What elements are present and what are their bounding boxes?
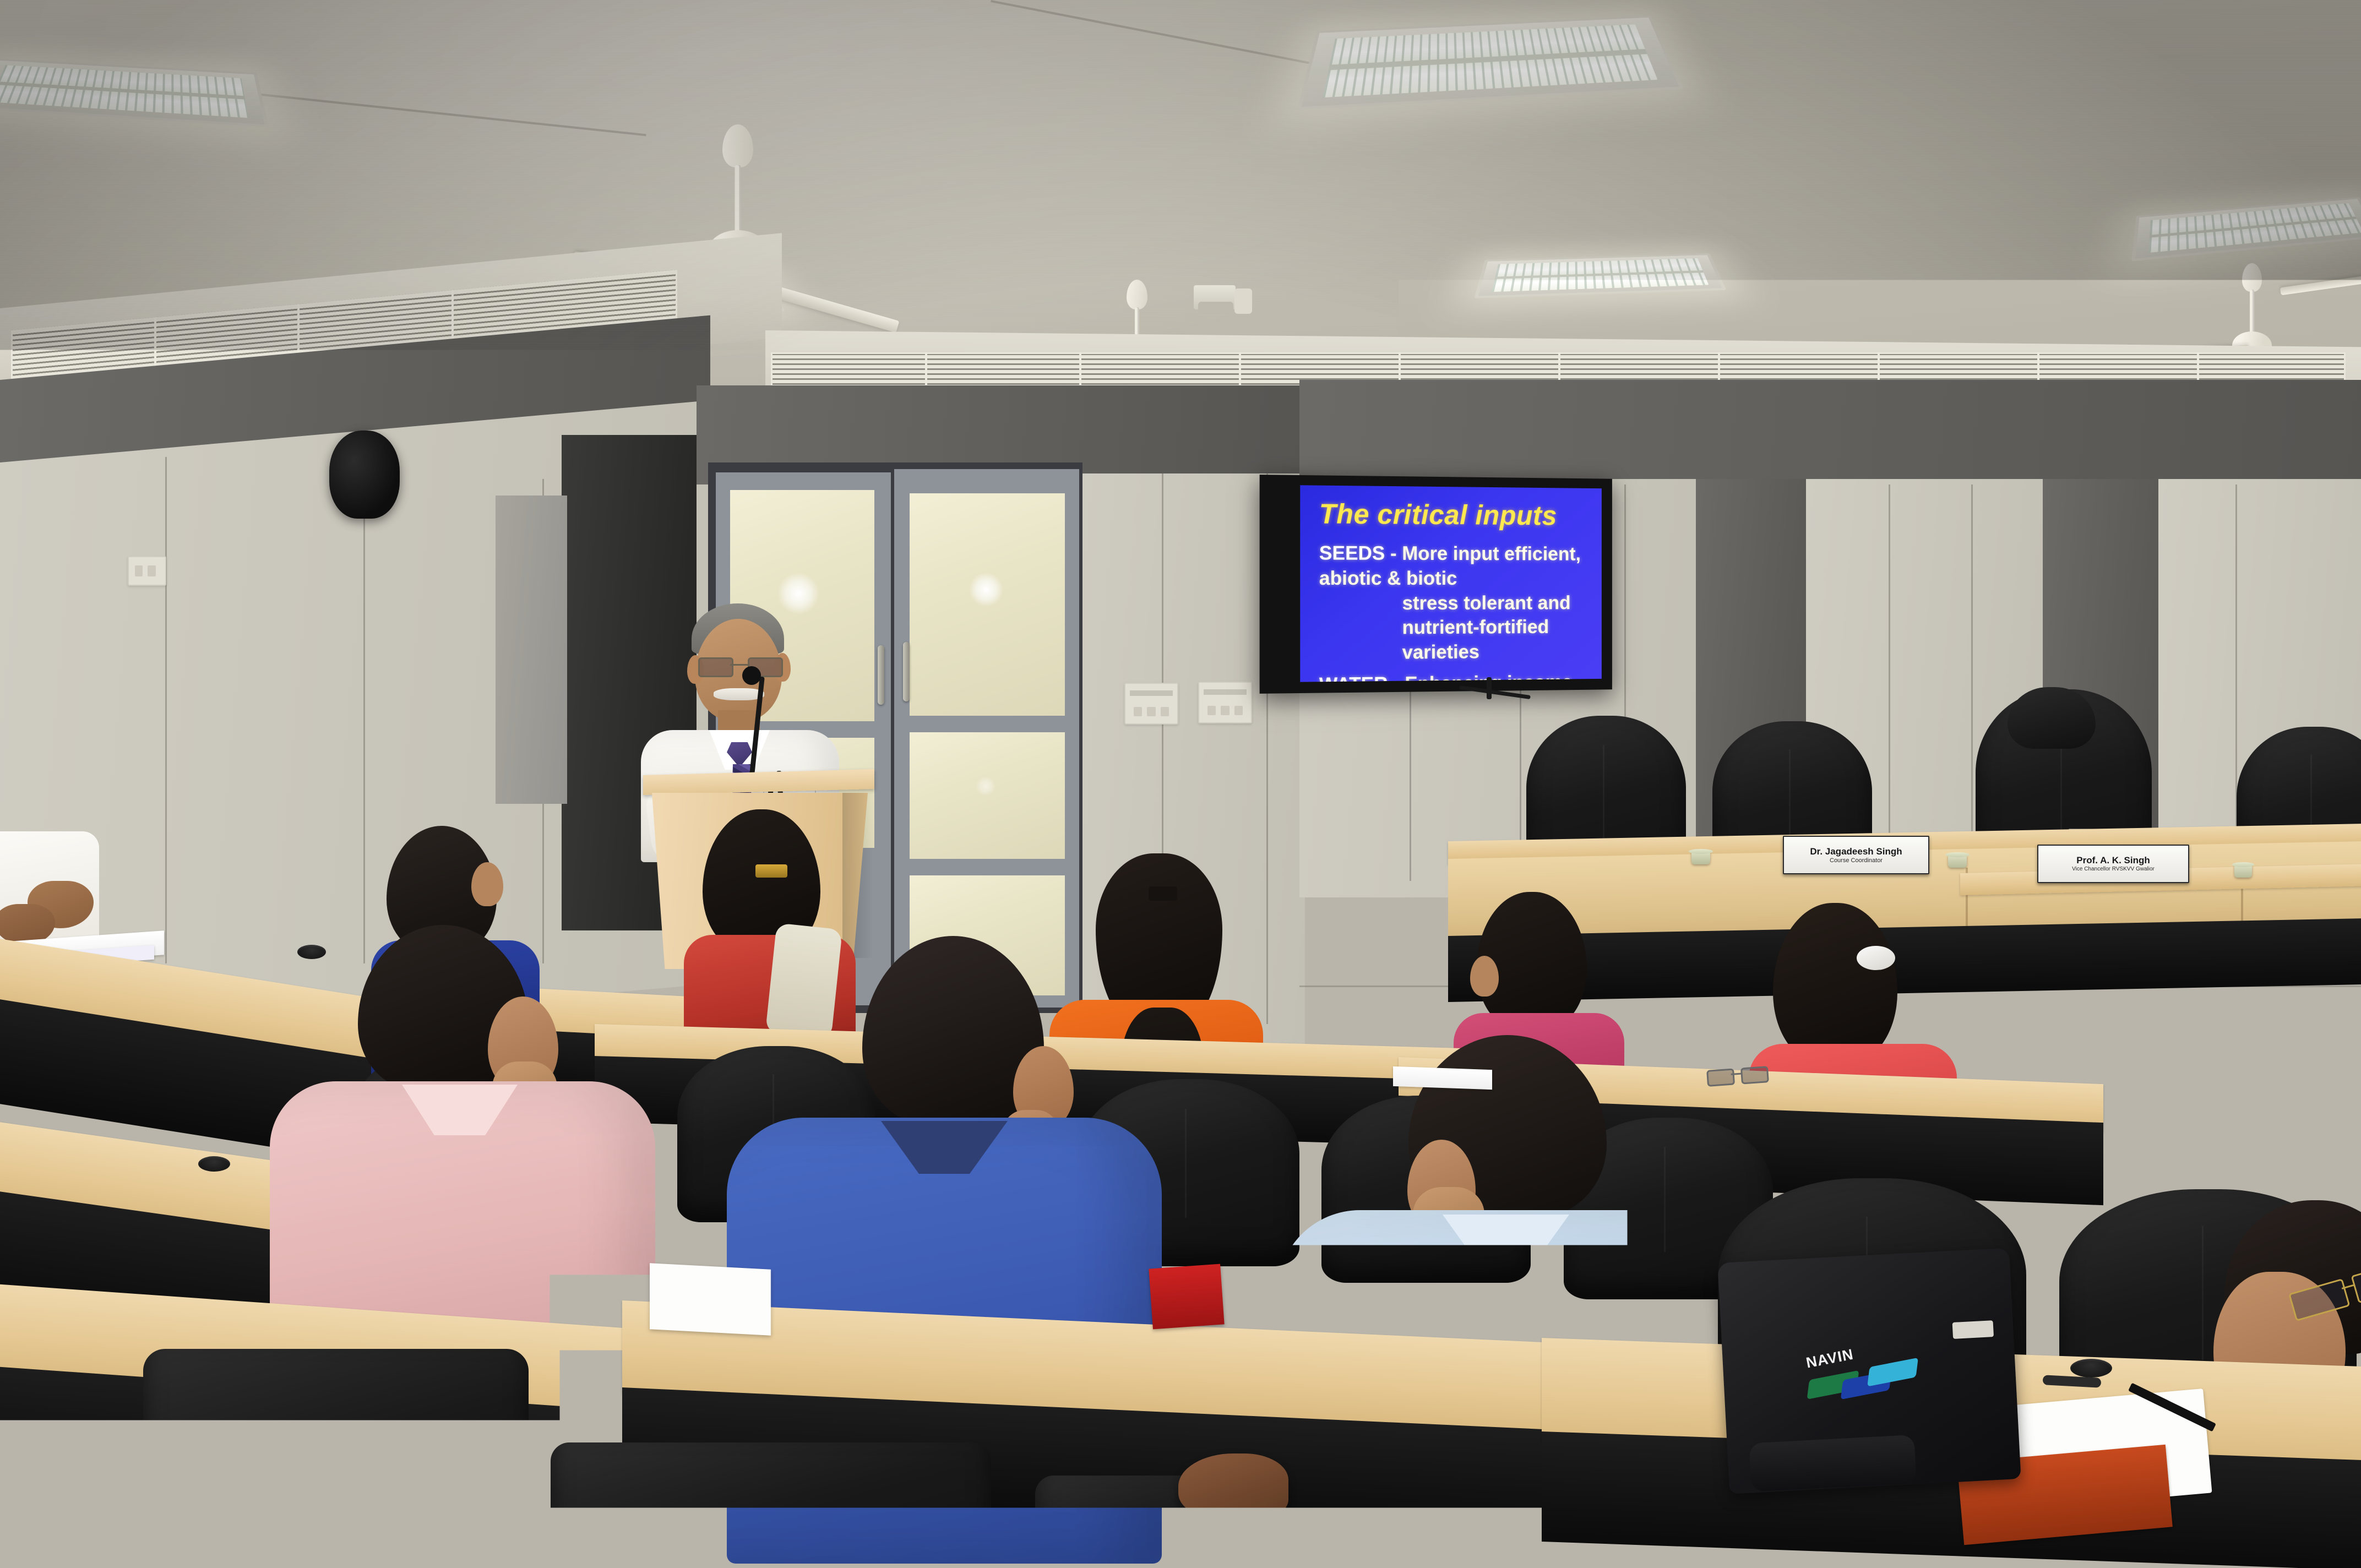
microphone-head-icon [742, 666, 761, 685]
hair-clip-icon [755, 864, 787, 878]
admin-chair[interactable] [143, 1349, 529, 1568]
slide-bullet-heading: SEEDS [1319, 542, 1385, 564]
nameplate-subtitle: Vice Chancellor RVSKVV Gwalior [2072, 867, 2155, 872]
attendee-head [471, 862, 503, 906]
audience-chair[interactable] [1035, 1476, 1200, 1568]
door-glass-panel [910, 732, 1065, 859]
water-glass [1948, 854, 1967, 868]
slide-title: The critical inputs [1319, 498, 1587, 532]
nameplate: Dr. Jagadeesh Singh Course Coordinator [1783, 836, 1929, 874]
door-handle[interactable] [903, 642, 910, 701]
wall-switch-plate[interactable] [128, 556, 166, 586]
backpack: NAVIN [1717, 1248, 2021, 1494]
hair-clip-icon [1149, 886, 1177, 901]
cable-grommet [198, 1156, 230, 1172]
display-cable [1487, 677, 1492, 699]
red-notebook [1149, 1264, 1224, 1330]
backpack-brand-logo: NAVIN [1802, 1332, 1932, 1415]
water-glass [2234, 864, 2252, 878]
ceiling-fan [2302, 231, 2361, 341]
logo-shape-cyan [1867, 1358, 1918, 1387]
nameplate-subtitle: Course Coordinator [1830, 858, 1883, 864]
cctv-lens [1198, 302, 1233, 314]
nameplate-name: Prof. A. K. Singh [2076, 856, 2150, 865]
seminar-hall-photo: The critical inputs SEEDS - More input e… [0, 0, 2361, 1568]
door-glass-panel [910, 493, 1065, 716]
slide-bullet-cont: varieties [1319, 640, 1587, 666]
attendee-head [1470, 956, 1499, 997]
presentation-display: The critical inputs SEEDS - More input e… [1260, 475, 1612, 694]
cable-grommet [2070, 1359, 2112, 1378]
slide-bullet-seeds: SEEDS - More input efficient, abiotic & … [1319, 541, 1587, 666]
paper-stack [1393, 1066, 1492, 1090]
nameplate: Prof. A. K. Singh Vice Chancellor RVSKVV… [2037, 845, 2189, 883]
wall-switch-plate[interactable] [1124, 683, 1178, 725]
attendee-hair [1773, 903, 1897, 1063]
backpack-strap [1749, 1435, 1917, 1492]
shoe [1178, 1453, 1288, 1520]
slide-screen: The critical inputs SEEDS - More input e… [1300, 485, 1602, 682]
admin-chair[interactable] [551, 1442, 991, 1568]
hair-clip-icon [1857, 946, 1895, 970]
wall-switch-plate[interactable] [1198, 682, 1252, 723]
paper-stack [578, 1116, 688, 1142]
slide-bullet-dash: - [1390, 543, 1397, 564]
presenter-mustache [714, 688, 764, 700]
water-glass [1691, 851, 1710, 864]
slide-bullet-dash: - [1393, 673, 1400, 682]
wall-panel-upper-right [1299, 380, 2361, 484]
wall-strip [496, 496, 567, 804]
open-notebook [650, 1263, 771, 1336]
wall-seam [1889, 484, 1890, 881]
backpack-zipper-pull[interactable] [1952, 1320, 1994, 1339]
door-handle[interactable] [878, 645, 884, 705]
wall-seam [165, 457, 167, 963]
backpack-brand-text: NAVIN [1805, 1346, 1855, 1372]
wall-speaker-icon [329, 431, 400, 519]
slide-bullet-heading: WATER [1319, 673, 1388, 682]
nameplate-name: Dr. Jagadeesh Singh [1810, 847, 1902, 856]
presenter-glasses-icon [697, 657, 781, 676]
slide-bullet-cont: stress tolerant and nutrient-fortified [1319, 591, 1587, 641]
wall-seam [1971, 484, 1973, 881]
cctv-mount [1234, 288, 1252, 314]
slide-bullet-water: WATER - Enhancing income per unit quantu… [1319, 670, 1587, 682]
